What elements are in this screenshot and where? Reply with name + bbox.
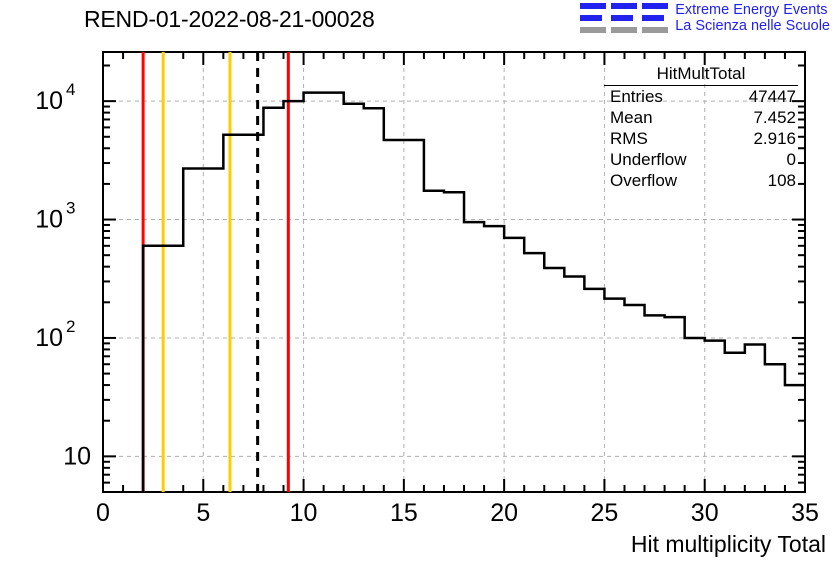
stats-row-label: Mean [610,108,653,129]
x-tick-label: 0 [96,499,110,527]
y-tick-label: 102 [35,317,75,352]
stats-row: RMS2.916 [604,129,798,150]
x-tick-label: 35 [791,499,819,527]
x-tick-label: 15 [390,499,418,527]
x-tick-label: 20 [490,499,518,527]
eee-letter-icon [611,3,637,33]
y-tick-label: 104 [35,80,75,115]
stats-row-label: RMS [610,129,648,150]
x-tick-label: 5 [196,499,210,527]
stats-row: Mean7.452 [604,108,798,129]
stats-row-label: Overflow [610,171,677,192]
stats-row-value: 47447 [749,87,796,108]
x-tick-label: 25 [591,499,619,527]
y-tick-label-exponent: 2 [66,317,75,336]
x-tick-label: 10 [290,499,318,527]
y-tick-label-exponent: 3 [66,199,75,218]
x-axis-tick-labels: 05101520253035 [96,499,819,527]
stats-row-value: 108 [768,171,796,192]
eee-logo: Extreme Energy Events La Scienza nelle S… [580,2,830,34]
stats-box: HitMultTotal Entries47447Mean7.452RMS2.9… [604,64,798,192]
page-title: REND-01-2022-08-21-00028 [84,6,375,33]
eee-logo-line2: La Scienza nelle Scuole [675,18,830,34]
eee-logo-text: Extreme Energy Events La Scienza nelle S… [675,2,830,34]
stats-row-label: Underflow [610,150,687,171]
eee-logo-glyphs [580,3,668,33]
stats-row: Underflow0 [604,150,798,171]
stats-row-value: 2.916 [753,129,796,150]
y-tick-label: 10 [63,442,91,470]
stats-row: Overflow108 [604,171,798,192]
y-tick-label-base: 10 [35,87,63,115]
stats-box-rows: Entries47447Mean7.452RMS2.916Underflow0O… [604,87,798,192]
x-tick-label: 30 [691,499,719,527]
stats-row-value: 7.452 [753,108,796,129]
threshold-markers [143,52,288,492]
stats-row: Entries47447 [604,87,798,108]
y-tick-label: 103 [35,199,75,234]
eee-logo-line1: Extreme Energy Events [675,2,830,18]
x-axis-title: Hit multiplicity Total [631,531,826,558]
y-tick-label-base: 10 [63,442,91,470]
y-tick-label-exponent: 4 [66,80,75,99]
eee-letter-icon [642,3,668,33]
stats-row-value: 0 [787,150,796,171]
stats-box-title: HitMultTotal [604,64,798,86]
y-tick-label-base: 10 [35,324,63,352]
eee-letter-icon [580,3,606,33]
stats-row-label: Entries [610,87,663,108]
y-axis-tick-labels: 10102103104 [35,80,91,470]
y-tick-label-base: 10 [35,206,63,234]
